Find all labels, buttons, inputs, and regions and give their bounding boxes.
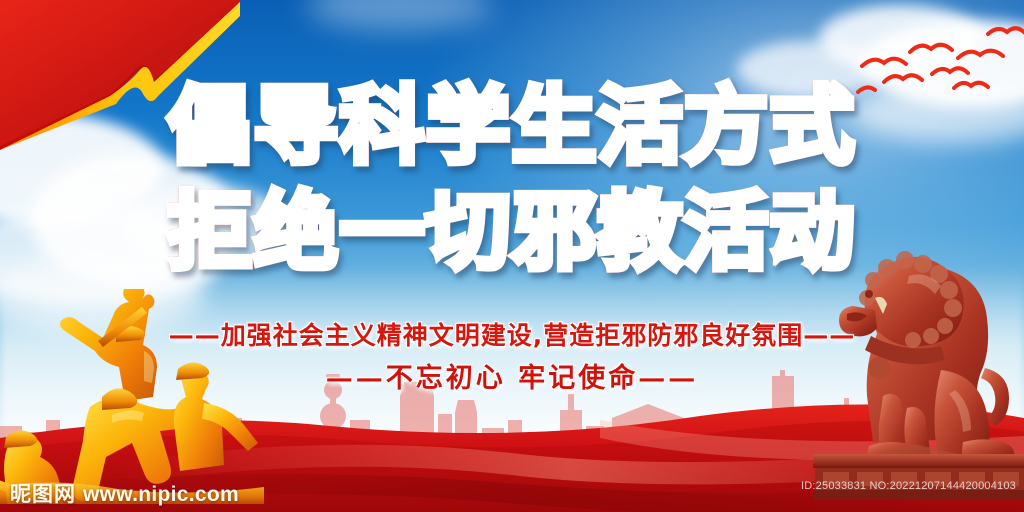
watermark: 昵图网 www.nipic.com xyxy=(10,478,239,508)
flying-birds-icon xyxy=(854,8,1024,98)
subtitle-line-1: ——加强社会主义精神文明建设,营造拒邪防邪良好氛围—— xyxy=(0,316,1024,352)
image-id-label: ID:25033831 NO:20221207144420004103 xyxy=(801,480,1016,492)
cloud-icon xyxy=(123,184,287,266)
watermark-url: www.nipic.com xyxy=(83,483,239,507)
poster-canvas: 倡导科学生活方式 拒绝一切邪教活动 ——加强社会主义精神文明建设,营造拒邪防邪良… xyxy=(0,0,1024,512)
red-flag-banner-icon xyxy=(0,0,240,150)
watermark-site-name: 昵图网 xyxy=(10,478,76,508)
subtitle-line-2: ——不忘初心 牢记使命—— xyxy=(0,356,1024,395)
